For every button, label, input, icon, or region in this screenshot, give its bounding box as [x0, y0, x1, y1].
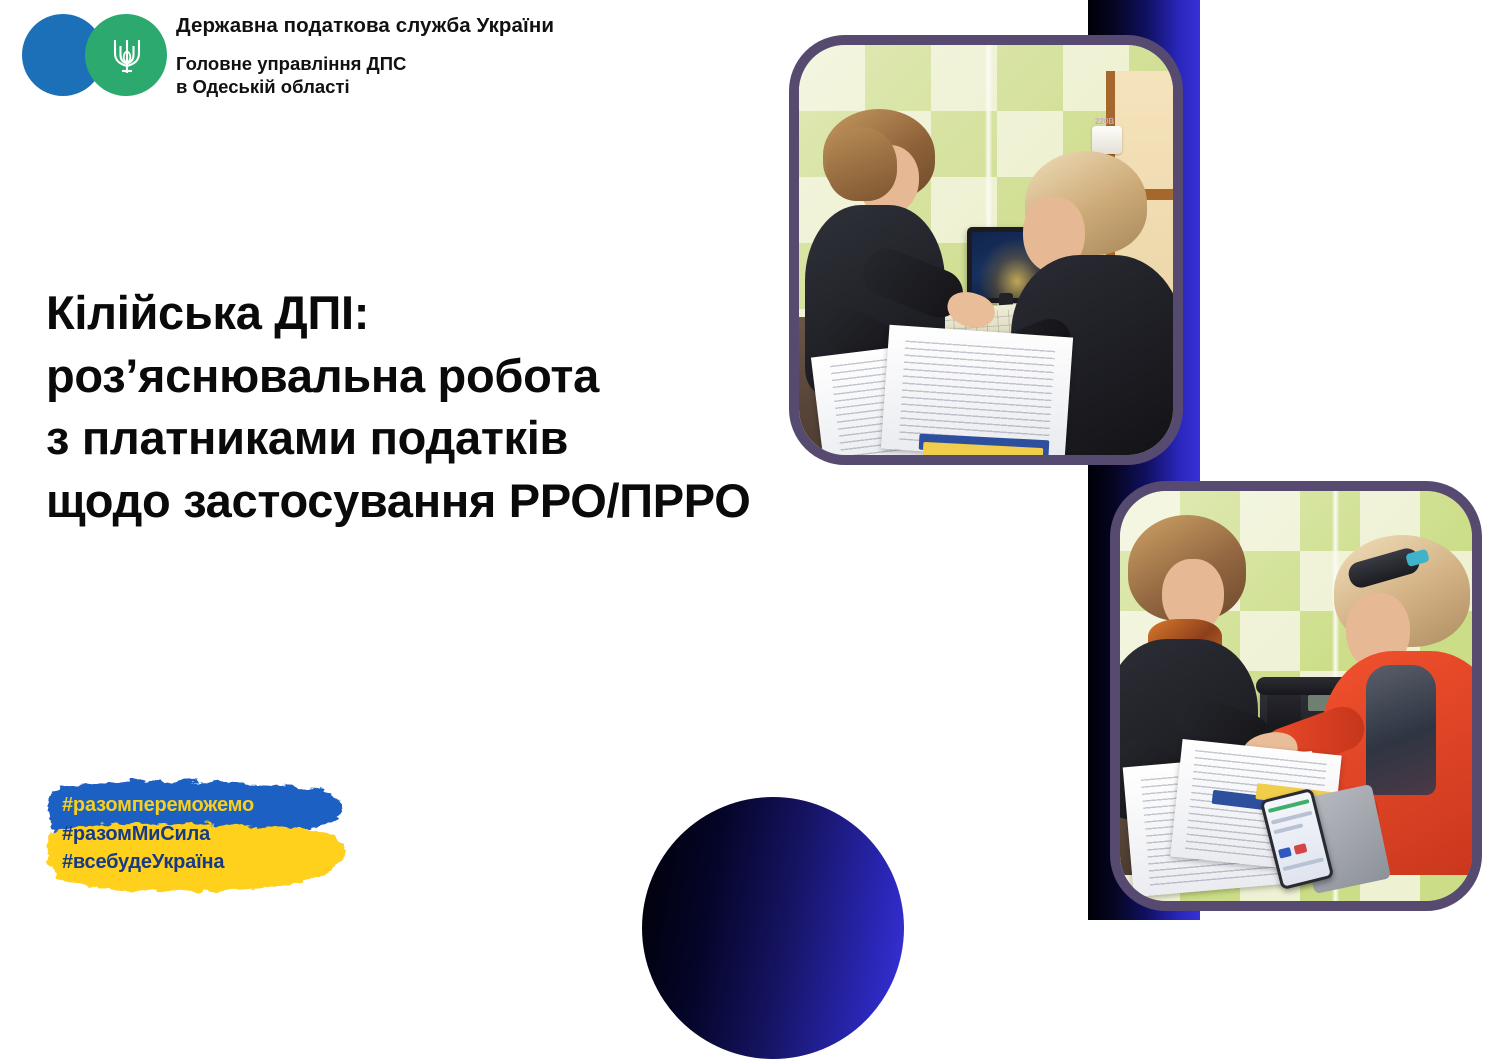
background-gradient-circle [642, 797, 904, 1059]
hashtag-list: #разомпереможемо #разомМиСила #всебудеУк… [62, 791, 254, 877]
hashtag-item: #всебудеУкраїна [62, 848, 254, 877]
agency-logo [22, 8, 170, 100]
photo-consultation-smartphone-content [1120, 491, 1472, 901]
photo-consultation-smartphone [1110, 481, 1482, 911]
brand-header: Державна податкова служба України Головн… [22, 8, 554, 100]
page-title: Кілійська ДПІ: роз’яснювальна робота з п… [46, 282, 976, 532]
organization-name: Державна податкова служба України [176, 14, 554, 39]
hashtag-item: #разомМиСила [62, 820, 254, 849]
person-hair-side [827, 127, 897, 201]
ukraine-trident-icon [109, 33, 145, 78]
brand-header-text: Державна податкова служба України Головн… [176, 8, 554, 98]
person-patterned-shirt [1366, 665, 1436, 795]
wall-socket-label: 220В [1095, 117, 1114, 126]
hashtag-flag-block: #разомпереможемо #разомМиСила #всебудеУк… [45, 775, 350, 903]
hashtag-item: #разомпереможемо [62, 791, 254, 820]
wall-socket [1092, 126, 1122, 154]
organization-unit: Головне управління ДПС в Одеській област… [176, 52, 554, 99]
